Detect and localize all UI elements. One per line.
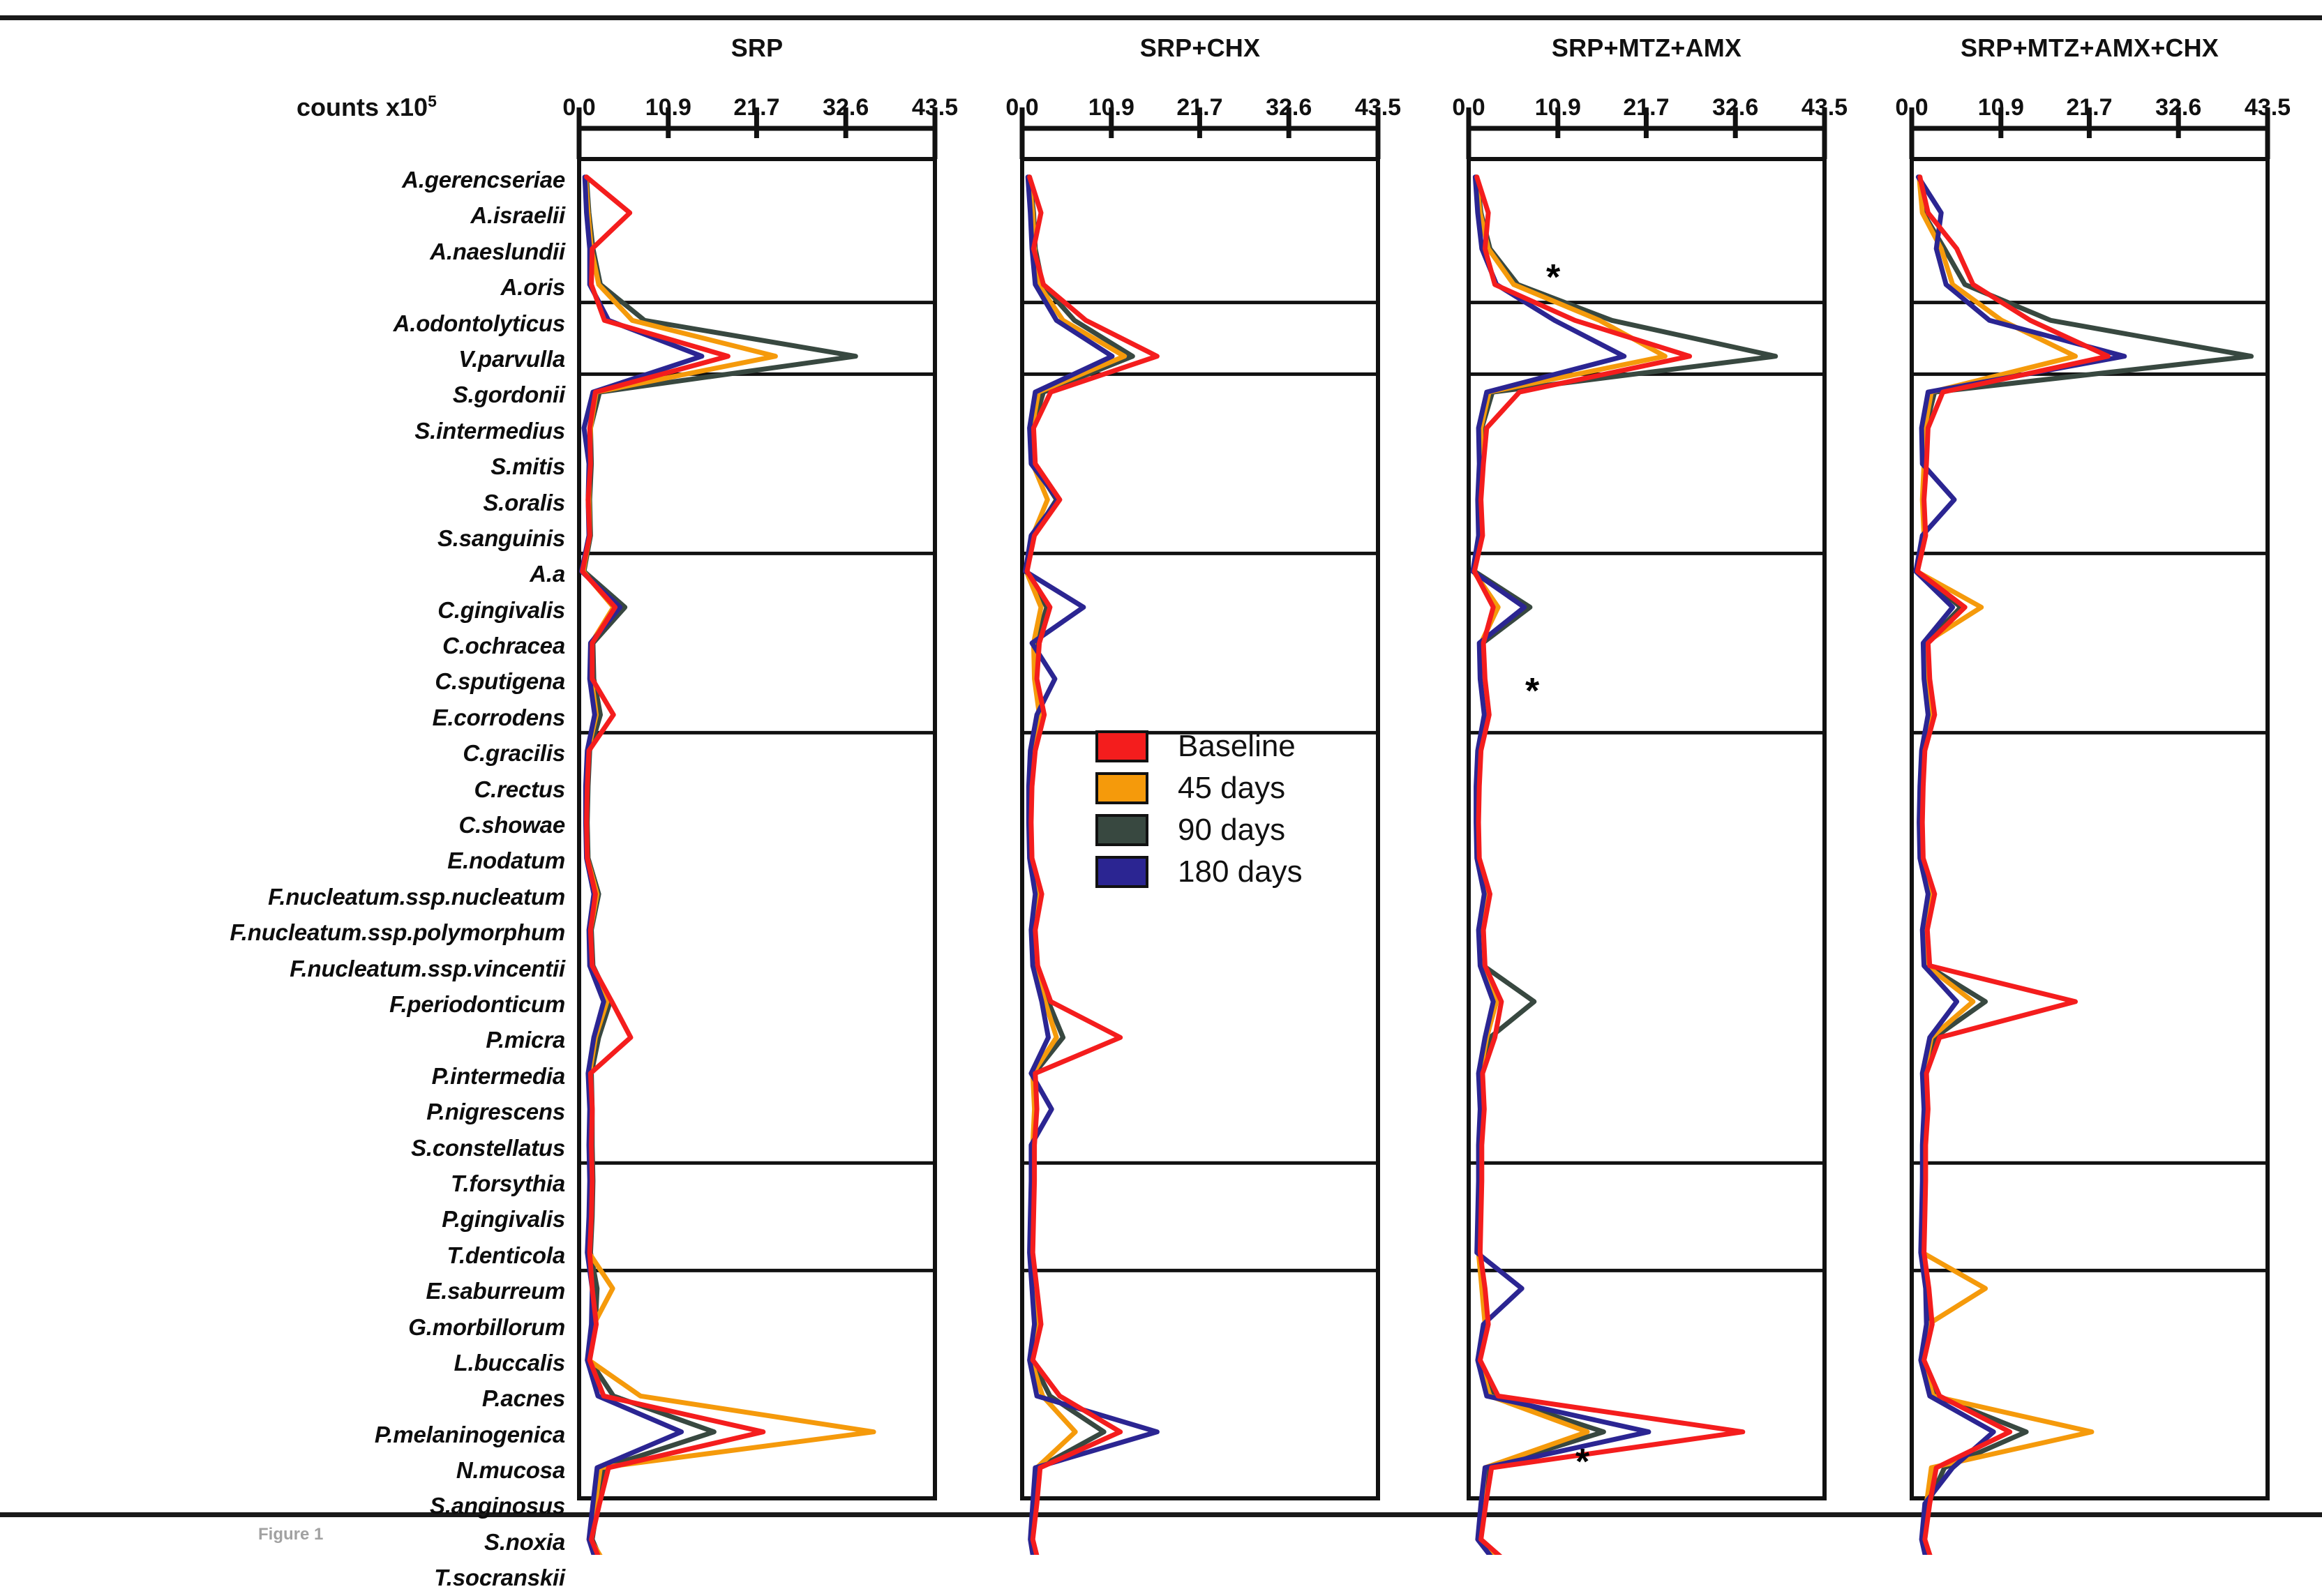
legend-item-1: 45 days	[1095, 767, 1388, 809]
significance-asterisk: *	[1525, 673, 1539, 709]
species-label: T.socranskii	[105, 1560, 565, 1595]
legend-label: Baseline	[1178, 729, 1296, 764]
legend-item-3: 180 days	[1095, 851, 1388, 893]
legend-item-2: 90 days	[1095, 809, 1388, 851]
legend-item-0: Baseline	[1095, 725, 1388, 767]
significance-asterisk: *	[1546, 259, 1560, 296]
significance-asterisk: *	[1575, 1444, 1589, 1480]
figure-caption: Figure 1	[258, 1525, 323, 1544]
legend-swatch-icon	[1095, 856, 1148, 888]
legend-swatch-icon	[1095, 772, 1148, 804]
legend: Baseline45 days90 days180 days	[1095, 725, 1388, 893]
legend-label: 45 days	[1178, 771, 1285, 806]
legend-label: 180 days	[1178, 855, 1303, 889]
legend-label: 90 days	[1178, 813, 1285, 848]
legend-swatch-icon	[1095, 814, 1148, 846]
figure-root: counts x105 SRPSRP+CHXSRP+MTZ+AMXSRP+MTZ…	[0, 0, 2322, 1555]
legend-swatch-icon	[1095, 730, 1148, 762]
